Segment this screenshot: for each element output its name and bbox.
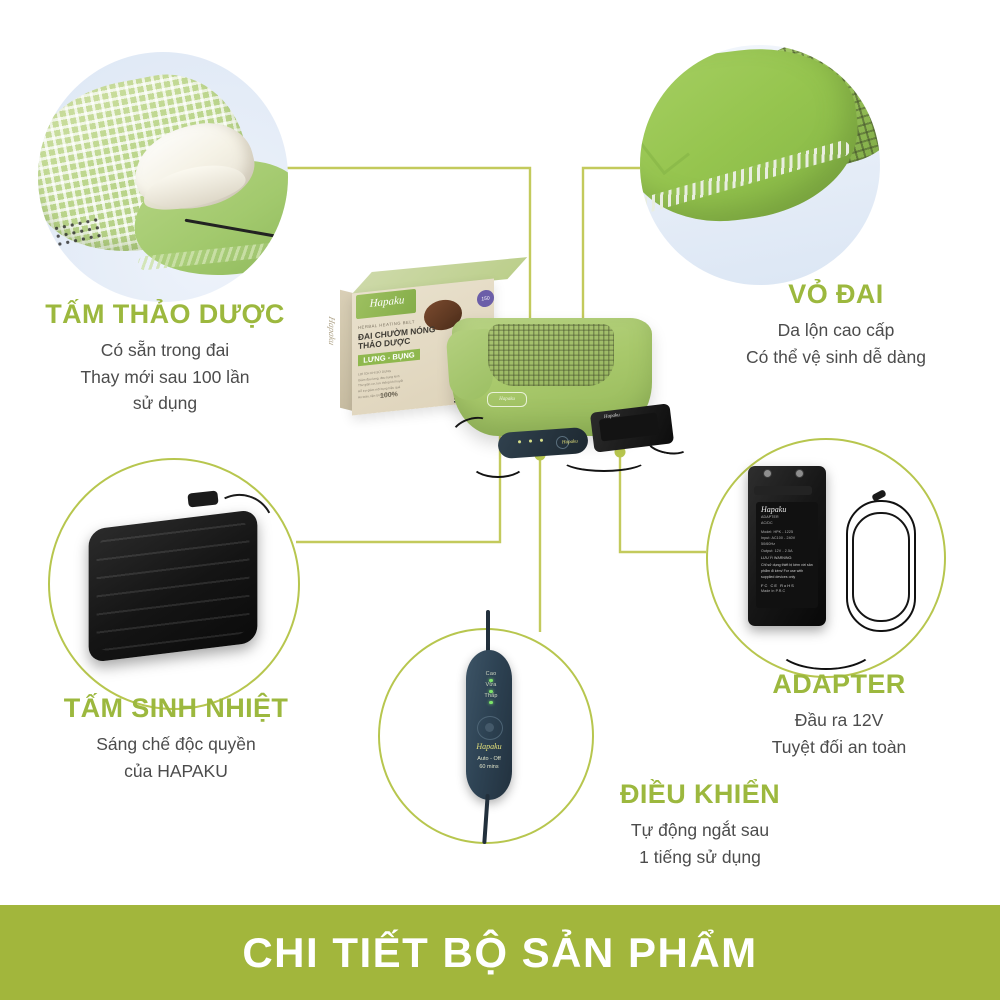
adapter-warning-title: LƯU Ý/ WARNING: <box>761 556 814 562</box>
callout-line-herbal-pad-2: Thay mới sau 100 lần <box>0 364 330 391</box>
adapter-cable-coil-inner <box>852 512 910 622</box>
callout-line-controller-1: Tự động ngắt sau <box>540 817 860 844</box>
callout-title-adapter: ADAPTER <box>678 668 1000 701</box>
callout-title-controller: ĐIỀU KHIỂN <box>540 778 860 811</box>
controller-power-button[interactable] <box>477 716 503 740</box>
callout-adapter: ADAPTER Đầu ra 12V Tuyệt đối an toàn <box>678 668 1000 760</box>
accessory-wire-right <box>644 428 691 457</box>
autooff-line-1: Auto - Off <box>466 756 512 764</box>
controller-level-high: Cao <box>474 672 508 682</box>
controller-brand-label: Hapaku <box>468 742 510 751</box>
adapter-spec-label: Hapaku ADAPTER AC/DC Model: HPK - 1225 I… <box>756 502 818 608</box>
callout-line-herbal-pad-1: Có sẵn trong đai <box>0 337 330 364</box>
callout-line-heating-pad-2: của HAPAKU <box>0 758 352 785</box>
controller-led-panel: Cao Vừa Thấp <box>474 672 508 705</box>
photo-herbal-pad <box>38 52 288 302</box>
controller-level-medium: Vừa <box>474 683 508 693</box>
callout-line-adapter-1: Đầu ra 12V <box>678 707 1000 734</box>
controller-level-low: Thấp <box>474 694 508 704</box>
banner-title: CHI TIẾT BỘ SẢN PHẨM <box>242 929 757 977</box>
bottom-banner: CHI TIẾT BỘ SẢN PHẨM <box>0 905 1000 1000</box>
callout-herbal-pad: TẤM THẢO DƯỢC Có sẵn trong đai Thay mới … <box>0 298 330 417</box>
adapter-warning-body: Chỉ sử dụng thiết bị kèm với sản phẩm đi… <box>761 563 814 580</box>
callout-line-belt-cover-2: Có thể vệ sinh dễ dàng <box>672 344 1000 371</box>
heating-belt-mesh-lining <box>488 324 614 386</box>
callout-belt-cover: VỎ ĐAI Da lộn cao cấp Có thể vệ sinh dễ … <box>672 278 1000 370</box>
adapter-output: Output: 12V - 2.5A <box>761 548 814 554</box>
callout-controller: ĐIỀU KHIỂN Tự động ngắt sau 1 tiếng sử d… <box>540 778 860 870</box>
callout-title-heating-pad: TẤM SINH NHIỆT <box>0 692 352 725</box>
callout-line-heating-pad-1: Sáng chế độc quyền <box>0 731 352 758</box>
callout-heating-pad: TẤM SINH NHIỆT Sáng chế độc quyền của HA… <box>0 692 352 784</box>
adapter-origin: Made in P.R.C <box>761 588 814 594</box>
adapter-output-cord <box>776 622 876 670</box>
callout-title-herbal-pad: TẤM THẢO DƯỢC <box>0 298 330 331</box>
level-label-high: Cao <box>486 672 497 678</box>
infographic-canvas: Cao Vừa Thấp Hapaku Auto - Off 60 mins H… <box>0 0 1000 1000</box>
callout-title-belt-cover: VỎ ĐAI <box>672 278 1000 311</box>
adapter-type-2: AC/DC <box>761 520 814 526</box>
controller-autooff-label: Auto - Off 60 mins <box>466 756 512 772</box>
callout-line-adapter-2: Tuyệt đối an toàn <box>678 734 1000 761</box>
callout-line-controller-2: 1 tiếng sử dụng <box>540 844 860 871</box>
heating-belt-brand-tag: Hapaku <box>487 392 527 407</box>
callout-line-herbal-pad-3: sử dụng <box>0 390 330 417</box>
led-indicator-low <box>489 701 493 705</box>
level-label-medium: Vừa <box>485 683 496 689</box>
adapter-prong-bar <box>754 486 812 495</box>
callout-line-belt-cover-1: Da lộn cao cấp <box>672 317 1000 344</box>
level-label-low: Thấp <box>484 694 497 700</box>
photo-belt-cover <box>640 45 880 285</box>
connector-belt-cover <box>583 168 640 332</box>
adapter-brand: Hapaku <box>761 506 814 514</box>
autooff-line-2: 60 mins <box>466 764 512 772</box>
